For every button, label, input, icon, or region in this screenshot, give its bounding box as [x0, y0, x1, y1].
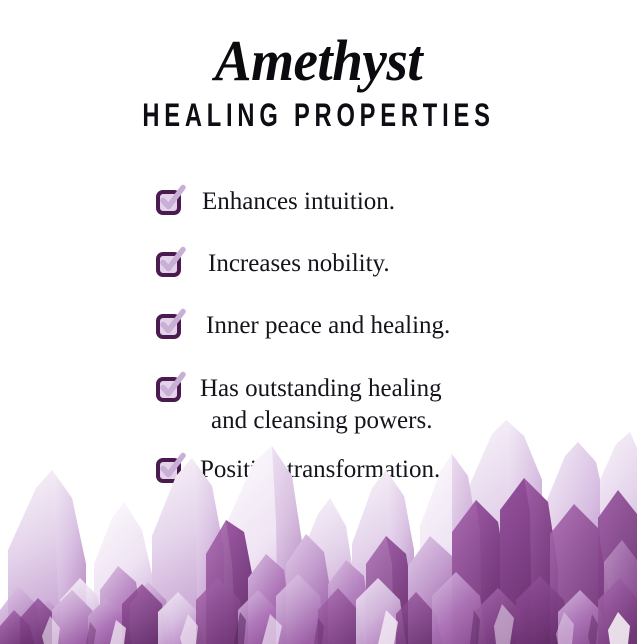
checkmark-icon — [157, 184, 187, 214]
list-item-label: Increases nobility. — [182, 248, 390, 280]
list-item-label: Enhances intuition. — [182, 186, 395, 218]
list-item[interactable]: Increases nobility. — [156, 248, 576, 280]
crystal-illustration — [0, 414, 637, 644]
list-item-line-1: Increases nobility. — [208, 250, 390, 277]
list-item[interactable]: Inner peace and healing. — [156, 310, 576, 342]
page-title: Amethyst — [16, 32, 621, 90]
checked-checkbox-icon[interactable] — [156, 251, 182, 277]
checkmark-icon — [157, 246, 187, 276]
list-item-line-1: Enhances intuition. — [202, 188, 395, 215]
title-block: Amethyst HEALING PROPERTIES — [0, 32, 637, 131]
list-item-line-1: Has outstanding healing — [200, 375, 442, 402]
poster-canvas: Amethyst HEALING PROPERTIES Enhances int… — [0, 0, 637, 644]
checked-checkbox-icon[interactable] — [156, 376, 182, 402]
list-item-label: Inner peace and healing. — [182, 310, 450, 342]
amethyst-crystal-cluster-photo — [0, 414, 637, 644]
list-item-line-1: Inner peace and healing. — [206, 312, 450, 339]
list-item[interactable]: Enhances intuition. — [156, 186, 576, 218]
checked-checkbox-icon[interactable] — [156, 189, 182, 215]
checkmark-icon — [157, 371, 187, 401]
page-subtitle: HEALING PROPERTIES — [83, 99, 554, 131]
checkmark-icon — [157, 308, 187, 338]
checked-checkbox-icon[interactable] — [156, 313, 182, 339]
